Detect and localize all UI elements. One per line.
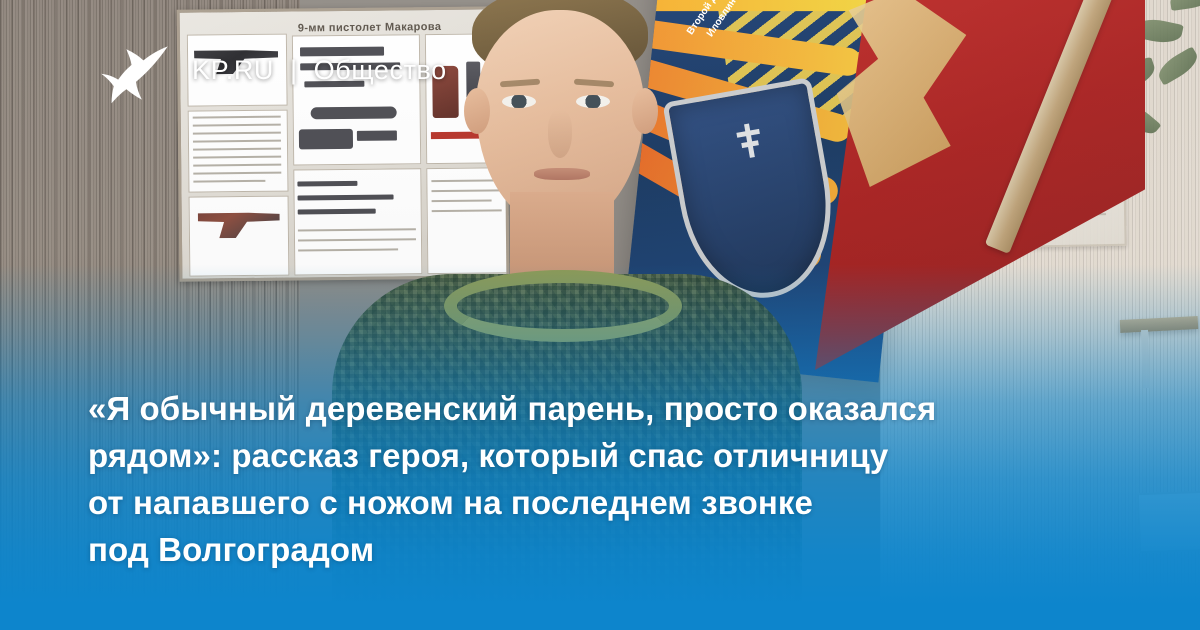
brand-line: KP.RU | Общество	[192, 55, 447, 86]
wall-paper-sheet	[1137, 491, 1200, 553]
mouth	[534, 168, 590, 180]
ear-right	[632, 88, 658, 134]
ear-left	[464, 88, 490, 134]
headline-line-1: «Я обычный деревенский парень, просто ок…	[88, 385, 1088, 432]
shirt-collar	[444, 270, 682, 342]
headline-line-3: от напавшего с ножом на последнем звонке	[88, 479, 1088, 526]
swallow-bird-icon	[96, 33, 170, 107]
eye-left	[502, 95, 536, 108]
site-name[interactable]: KP.RU	[192, 55, 274, 86]
brand-separator: |	[290, 55, 298, 86]
eye-right	[576, 95, 610, 108]
rubric-label[interactable]: Общество	[314, 55, 447, 86]
nose	[548, 110, 572, 158]
headline-line-2: рядом»: рассказ героя, который спас отли…	[88, 432, 1088, 479]
brand-header: KP.RU | Общество	[96, 33, 447, 107]
article-headline[interactable]: «Я обычный деревенский парень, просто ок…	[88, 385, 1088, 573]
social-share-card: 9-мм пистолет Макарова	[0, 0, 1200, 630]
headline-line-4: под Волгоградом	[88, 526, 1088, 573]
